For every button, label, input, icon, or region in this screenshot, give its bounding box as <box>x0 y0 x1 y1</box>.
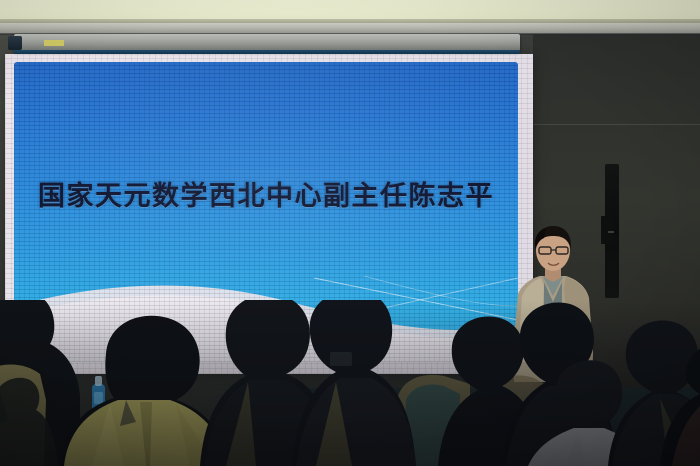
slide-title: 国家天元数学西北中心副主任陈志平 <box>14 174 518 213</box>
lecture-hall-photo: 国家天元数学西北中心副主任陈志平 <box>0 0 700 466</box>
screen-roller-end-cap <box>8 36 22 50</box>
screen-roller-housing <box>14 34 520 51</box>
roller-shadow-band <box>14 50 520 54</box>
wall-speaker-led <box>608 231 614 233</box>
audience <box>0 300 700 466</box>
wall-seam-line <box>533 124 700 125</box>
roller-warning-label <box>44 40 64 46</box>
phone-icon <box>330 352 352 366</box>
audience-member-center <box>292 300 416 466</box>
audience-member-yellow-shirt <box>60 316 228 466</box>
